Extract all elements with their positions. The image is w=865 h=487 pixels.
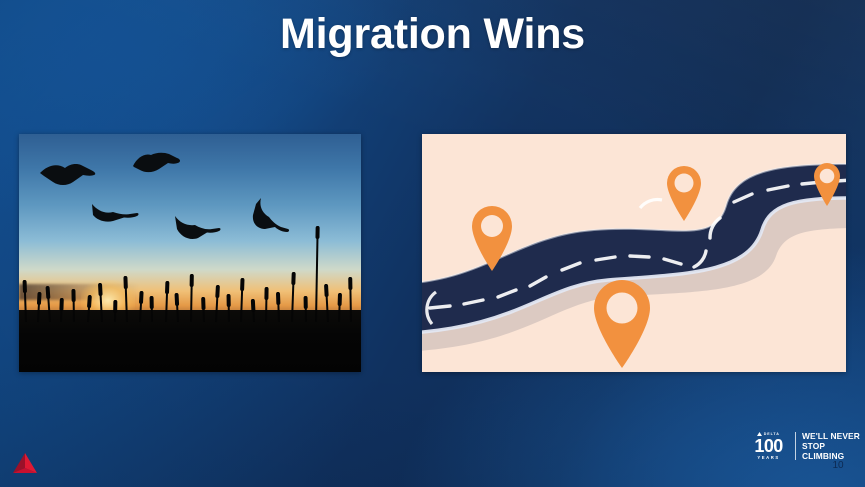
map-pin-marker [591,277,653,372]
delta-widget-icon [12,452,38,475]
map-pin-marker [665,164,703,227]
badge-tagline-line-1: WE'LL NEVER [802,431,865,441]
badge-tagline-line-2: STOP CLIMBING [802,441,865,461]
goose-silhouette [174,211,222,241]
slide-title: Migration Wins [0,8,865,60]
goose-silhouette [131,152,181,176]
badge-mark: DELTA 100 YEARS [748,428,789,464]
map-pin-marker [470,204,514,277]
right-image-winding-road: New Departments [422,134,846,372]
badge-number: 100 [754,437,782,455]
goose-silhouette [89,200,139,224]
goose-silhouette [247,196,293,234]
badge-divider [795,432,796,460]
map-pin-marker [812,161,842,212]
badge-tagline: WE'LL NEVER STOP CLIMBING [802,431,865,461]
left-image-geese-sunset: Migrate [19,134,361,372]
page-number: 10 [826,459,850,472]
presentation-slide: Migration Wins [0,0,865,487]
goose-silhouette [39,162,97,188]
badge-years-label: YEARS [757,455,779,461]
